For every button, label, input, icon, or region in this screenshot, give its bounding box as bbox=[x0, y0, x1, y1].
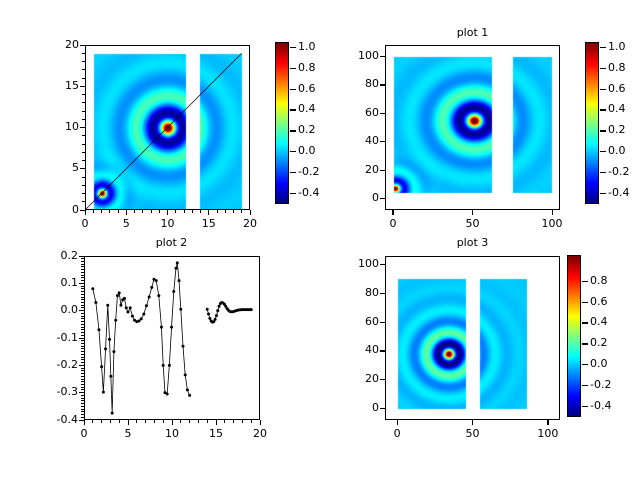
xtick-minor bbox=[118, 210, 119, 213]
xtick-label: 5 bbox=[104, 217, 148, 230]
ytick-minor bbox=[81, 406, 84, 407]
figure-canvas: 05101520 05101520 1.00.80.60.40.20.0-0.2… bbox=[0, 0, 640, 480]
ytick-mark bbox=[380, 264, 385, 265]
ytick-mark bbox=[380, 198, 385, 199]
colorbar-tick-label: -0.2 bbox=[298, 165, 338, 178]
xtick-mark bbox=[392, 210, 393, 215]
colorbar-tick-label: 0.0 bbox=[608, 144, 640, 157]
data-point-marker bbox=[118, 291, 121, 294]
data-point-marker bbox=[166, 393, 169, 396]
ytick-minor bbox=[81, 313, 84, 314]
colorbar-tick-label: 0.2 bbox=[590, 336, 630, 349]
xtick-minor bbox=[233, 210, 234, 213]
ytick-mark bbox=[380, 170, 385, 171]
colorbar-tick-mark bbox=[290, 89, 296, 90]
diagonal-reference-line bbox=[85, 53, 242, 210]
colorbar-tick-label: 0.0 bbox=[298, 144, 338, 157]
ytick-minor bbox=[82, 69, 85, 70]
data-point-marker bbox=[250, 308, 253, 311]
ytick-label: 20 bbox=[41, 38, 79, 51]
ytick-label: 80 bbox=[341, 286, 379, 299]
colorbar-tick-mark bbox=[290, 68, 296, 69]
ytick-minor bbox=[82, 119, 85, 120]
ytick-minor bbox=[81, 381, 84, 382]
colorbar-tick-label: 0.4 bbox=[608, 102, 640, 115]
data-point-marker bbox=[172, 290, 175, 293]
ytick-minor bbox=[82, 102, 85, 103]
subplot-bottom-left-title: plot 2 bbox=[84, 236, 259, 249]
ytick-minor bbox=[81, 258, 84, 259]
line-path bbox=[93, 263, 190, 413]
ytick-label: 0.0 bbox=[40, 303, 78, 316]
colorbar-tick-label: -0.2 bbox=[608, 165, 640, 178]
ytick-minor bbox=[82, 185, 85, 186]
data-point-marker bbox=[109, 375, 112, 378]
data-point-marker bbox=[216, 309, 219, 312]
data-point-marker bbox=[168, 364, 171, 367]
xtick-mark bbox=[472, 420, 473, 425]
data-point-marker bbox=[100, 365, 103, 368]
ytick-minor bbox=[81, 316, 84, 317]
overlay-diagonal-line-top-left bbox=[85, 45, 250, 210]
xtick-minor bbox=[145, 420, 146, 423]
colorbar-tick-label: -0.2 bbox=[590, 378, 630, 391]
ytick-minor bbox=[81, 379, 84, 380]
ytick-minor bbox=[81, 403, 84, 404]
data-point-marker bbox=[119, 304, 122, 307]
ytick-label: 0.1 bbox=[40, 276, 78, 289]
line-series-bottom-left bbox=[84, 256, 260, 420]
colorbar-tick-mark bbox=[600, 68, 606, 69]
ytick-minor bbox=[81, 294, 84, 295]
ytick-minor bbox=[81, 346, 84, 347]
data-point-marker bbox=[91, 287, 94, 290]
ytick-minor bbox=[81, 395, 84, 396]
colorbar-tick-mark bbox=[600, 109, 606, 110]
colorbar-tick-mark bbox=[600, 172, 606, 173]
data-point-marker bbox=[131, 315, 134, 318]
ytick-label: -0.4 bbox=[40, 413, 78, 426]
data-point-marker bbox=[140, 317, 143, 320]
colorbar-tick-label: 0.4 bbox=[590, 315, 630, 328]
xtick-minor bbox=[159, 210, 160, 213]
ytick-label: -0.3 bbox=[40, 385, 78, 398]
ytick-minor bbox=[81, 373, 84, 374]
xtick-label: 5 bbox=[106, 427, 150, 440]
ytick-minor bbox=[82, 144, 85, 145]
ytick-minor bbox=[81, 417, 84, 418]
ytick-minor bbox=[81, 411, 84, 412]
ytick-label: 80 bbox=[341, 77, 379, 90]
ytick-minor bbox=[82, 61, 85, 62]
data-point-marker bbox=[114, 319, 117, 322]
xtick-minor bbox=[224, 420, 225, 423]
colorbar-tick-label: 0.6 bbox=[608, 82, 640, 95]
ytick-minor bbox=[81, 389, 84, 390]
xtick-minor bbox=[192, 210, 193, 213]
xtick-minor bbox=[207, 420, 208, 423]
xtick-minor bbox=[200, 210, 201, 213]
ytick-mark bbox=[80, 168, 85, 169]
subplot-bottom-right-title: plot 3 bbox=[385, 236, 560, 249]
ytick-minor bbox=[81, 266, 84, 267]
ytick-label: -0.2 bbox=[40, 358, 78, 371]
colorbar-tick-mark bbox=[582, 322, 588, 323]
xtick-minor bbox=[184, 210, 185, 213]
data-point-marker bbox=[174, 267, 177, 270]
colorbar-tick-mark bbox=[582, 302, 588, 303]
ytick-minor bbox=[81, 376, 84, 377]
data-point-marker bbox=[208, 317, 211, 320]
xtick-label: 50 bbox=[451, 217, 495, 230]
data-point-marker bbox=[111, 412, 114, 415]
colorbar-tick-mark bbox=[582, 343, 588, 344]
data-point-marker bbox=[127, 311, 130, 314]
data-point-marker bbox=[179, 308, 182, 311]
colorbar-frame-bottom-right bbox=[567, 255, 581, 417]
ytick-minor bbox=[82, 193, 85, 194]
xtick-minor bbox=[180, 420, 181, 423]
xtick-label: 50 bbox=[451, 427, 495, 440]
ytick-minor bbox=[81, 302, 84, 303]
axes-frame-bottom-right bbox=[385, 256, 560, 420]
ytick-minor bbox=[81, 340, 84, 341]
ytick-minor bbox=[82, 160, 85, 161]
data-point-marker bbox=[215, 314, 218, 317]
ytick-label: 10 bbox=[41, 120, 79, 133]
colorbar-tick-mark bbox=[290, 130, 296, 131]
ytick-minor bbox=[81, 297, 84, 298]
colorbar-tick-label: 0.2 bbox=[298, 123, 338, 136]
xtick-mark bbox=[167, 210, 168, 215]
ytick-mark bbox=[380, 293, 385, 294]
ytick-label: 0.2 bbox=[40, 249, 78, 262]
xtick-mark bbox=[172, 420, 173, 425]
xtick-label: 100 bbox=[526, 427, 570, 440]
ytick-minor bbox=[81, 264, 84, 265]
ytick-minor bbox=[81, 332, 84, 333]
xtick-minor bbox=[175, 210, 176, 213]
xtick-minor bbox=[109, 210, 110, 213]
ytick-minor bbox=[81, 387, 84, 388]
data-point-marker bbox=[150, 286, 153, 289]
data-point-marker bbox=[148, 296, 151, 299]
ytick-mark bbox=[380, 322, 385, 323]
xtick-label: 0 bbox=[375, 427, 419, 440]
xtick-minor bbox=[119, 420, 120, 423]
colorbar-tick-mark bbox=[600, 151, 606, 152]
data-point-marker bbox=[112, 350, 115, 353]
subplot-top-right-title: plot 1 bbox=[385, 26, 560, 39]
colorbar-tick-mark bbox=[600, 47, 606, 48]
colorbar-tick-label: 0.6 bbox=[590, 295, 630, 308]
data-point-marker bbox=[155, 279, 158, 282]
ytick-minor bbox=[81, 362, 84, 363]
ytick-minor bbox=[81, 277, 84, 278]
xtick-minor bbox=[198, 420, 199, 423]
xtick-mark bbox=[397, 420, 398, 425]
xtick-mark bbox=[208, 210, 209, 215]
ytick-minor bbox=[82, 177, 85, 178]
ytick-minor bbox=[82, 111, 85, 112]
xtick-minor bbox=[101, 210, 102, 213]
colorbar-tick-label: 0.6 bbox=[298, 82, 338, 95]
ytick-label: 100 bbox=[341, 257, 379, 270]
ytick-label: 15 bbox=[41, 79, 79, 92]
colorbar-tick-label: 0.4 bbox=[298, 102, 338, 115]
colorbar-tick-mark bbox=[290, 193, 296, 194]
xtick-label: 20 bbox=[228, 217, 272, 230]
data-point-marker bbox=[97, 328, 100, 331]
ytick-label: 60 bbox=[341, 315, 379, 328]
colorbar-tick-label: 0.8 bbox=[590, 274, 630, 287]
ytick-minor bbox=[81, 414, 84, 415]
ytick-minor bbox=[81, 286, 84, 287]
xtick-minor bbox=[189, 420, 190, 423]
ytick-label: -0.1 bbox=[40, 331, 78, 344]
ytick-minor bbox=[81, 335, 84, 336]
ytick-minor bbox=[81, 370, 84, 371]
data-point-marker bbox=[176, 261, 179, 264]
data-point-marker bbox=[123, 297, 126, 300]
xtick-mark bbox=[472, 210, 473, 215]
colorbar-tick-mark bbox=[582, 281, 588, 282]
colorbar-tick-mark bbox=[290, 151, 296, 152]
data-point-marker bbox=[142, 312, 145, 315]
xtick-label: 15 bbox=[187, 217, 231, 230]
ytick-minor bbox=[81, 327, 84, 328]
xtick-mark bbox=[216, 420, 217, 425]
data-point-marker bbox=[145, 304, 148, 307]
colorbar-tick-label: 0.8 bbox=[298, 61, 338, 74]
colorbar-tick-label: 1.0 bbox=[298, 40, 338, 53]
ytick-mark bbox=[80, 86, 85, 87]
xtick-minor bbox=[101, 420, 102, 423]
data-point-marker bbox=[104, 347, 107, 350]
ytick-label: 0 bbox=[41, 203, 79, 216]
colorbar-tick-label: 0.2 bbox=[608, 123, 640, 136]
xtick-mark bbox=[84, 420, 85, 425]
ytick-minor bbox=[81, 318, 84, 319]
xtick-label: 10 bbox=[146, 217, 190, 230]
colorbar-tick-label: -0.4 bbox=[298, 186, 338, 199]
ytick-minor bbox=[81, 354, 84, 355]
ytick-minor bbox=[82, 53, 85, 54]
colorbar-tick-mark bbox=[582, 385, 588, 386]
ytick-minor bbox=[81, 307, 84, 308]
xtick-mark bbox=[260, 420, 261, 425]
ytick-minor bbox=[81, 351, 84, 352]
colorbar-tick-mark bbox=[600, 89, 606, 90]
ytick-minor bbox=[81, 398, 84, 399]
xtick-mark bbox=[547, 420, 548, 425]
ytick-mark bbox=[380, 408, 385, 409]
xtick-minor bbox=[154, 420, 155, 423]
ytick-minor bbox=[81, 321, 84, 322]
xtick-minor bbox=[93, 210, 94, 213]
ytick-minor bbox=[81, 357, 84, 358]
ytick-mark bbox=[79, 338, 84, 339]
data-point-marker bbox=[102, 391, 105, 394]
ytick-mark bbox=[79, 283, 84, 284]
ytick-minor bbox=[82, 94, 85, 95]
colorbar-tick-label: -0.4 bbox=[608, 186, 640, 199]
colorbar-tick-mark bbox=[582, 364, 588, 365]
ytick-label: 60 bbox=[341, 106, 379, 119]
ytick-minor bbox=[81, 280, 84, 281]
ytick-label: 40 bbox=[341, 343, 379, 356]
ytick-mark bbox=[380, 350, 385, 351]
ytick-minor bbox=[81, 299, 84, 300]
colorbar-frame-top-right bbox=[585, 42, 599, 204]
ytick-label: 5 bbox=[41, 161, 79, 174]
ytick-label: 100 bbox=[341, 49, 379, 62]
xtick-minor bbox=[134, 210, 135, 213]
colorbar-tick-label: 1.0 bbox=[608, 40, 640, 53]
data-point-marker bbox=[125, 306, 128, 309]
ytick-minor bbox=[82, 152, 85, 153]
ytick-minor bbox=[81, 288, 84, 289]
xtick-mark bbox=[126, 210, 127, 215]
xtick-mark bbox=[250, 210, 251, 215]
data-point-marker bbox=[207, 312, 210, 315]
colorbar-tick-label: -0.4 bbox=[590, 399, 630, 412]
xtick-label: 0 bbox=[63, 217, 107, 230]
data-point-marker bbox=[138, 320, 141, 323]
ytick-minor bbox=[81, 359, 84, 360]
ytick-minor bbox=[81, 368, 84, 369]
data-point-marker bbox=[116, 294, 119, 297]
xtick-minor bbox=[217, 210, 218, 213]
ytick-minor bbox=[82, 201, 85, 202]
ytick-minor bbox=[81, 384, 84, 385]
ytick-label: 40 bbox=[341, 134, 379, 147]
ytick-mark bbox=[80, 45, 85, 46]
xtick-minor bbox=[142, 210, 143, 213]
ytick-label: 0 bbox=[341, 401, 379, 414]
data-point-marker bbox=[188, 394, 191, 397]
data-point-marker bbox=[218, 305, 221, 308]
ytick-mark bbox=[80, 127, 85, 128]
ytick-minor bbox=[81, 261, 84, 262]
data-point-marker bbox=[129, 306, 132, 309]
ytick-mark bbox=[79, 310, 84, 311]
xtick-mark bbox=[128, 420, 129, 425]
ytick-minor bbox=[82, 135, 85, 136]
data-point-marker bbox=[160, 326, 163, 329]
ytick-label: 20 bbox=[341, 163, 379, 176]
ytick-label: 0 bbox=[341, 191, 379, 204]
xtick-minor bbox=[92, 420, 93, 423]
ytick-minor bbox=[81, 348, 84, 349]
xtick-minor bbox=[163, 420, 164, 423]
data-point-marker bbox=[214, 318, 217, 321]
ytick-minor bbox=[81, 324, 84, 325]
ytick-mark bbox=[79, 365, 84, 366]
data-point-marker bbox=[94, 301, 97, 304]
ytick-minor bbox=[81, 275, 84, 276]
colorbar-tick-label: 0.0 bbox=[590, 357, 630, 370]
data-point-marker bbox=[178, 279, 181, 282]
ytick-minor bbox=[81, 272, 84, 273]
ytick-minor bbox=[81, 409, 84, 410]
ytick-minor bbox=[82, 78, 85, 79]
colorbar-frame-top-left bbox=[275, 42, 289, 204]
ytick-mark bbox=[79, 392, 84, 393]
xtick-minor bbox=[251, 420, 252, 423]
xtick-label: 15 bbox=[194, 427, 238, 440]
ytick-label: 20 bbox=[341, 372, 379, 385]
xtick-mark bbox=[85, 210, 86, 215]
ytick-mark bbox=[380, 113, 385, 114]
data-point-marker bbox=[170, 326, 173, 329]
ytick-minor bbox=[81, 329, 84, 330]
data-point-marker bbox=[182, 345, 185, 348]
ytick-minor bbox=[81, 305, 84, 306]
colorbar-tick-mark bbox=[600, 193, 606, 194]
colorbar-tick-mark bbox=[290, 172, 296, 173]
data-point-marker bbox=[157, 294, 160, 297]
colorbar-tick-mark bbox=[582, 406, 588, 407]
data-point-marker bbox=[106, 304, 109, 307]
axes-frame-top-right bbox=[385, 45, 560, 210]
xtick-mark bbox=[552, 210, 553, 215]
ytick-minor bbox=[81, 343, 84, 344]
ytick-mark bbox=[380, 141, 385, 142]
xtick-label: 20 bbox=[238, 427, 282, 440]
data-point-marker bbox=[108, 338, 111, 341]
ytick-mark bbox=[380, 379, 385, 380]
xtick-label: 100 bbox=[530, 217, 574, 230]
xtick-label: 10 bbox=[150, 427, 194, 440]
ytick-minor bbox=[81, 269, 84, 270]
xtick-minor bbox=[225, 210, 226, 213]
xtick-label: 0 bbox=[371, 217, 415, 230]
data-point-marker bbox=[162, 364, 165, 367]
xtick-minor bbox=[242, 420, 243, 423]
data-point-marker bbox=[206, 308, 209, 311]
xtick-minor bbox=[233, 420, 234, 423]
xtick-minor bbox=[110, 420, 111, 423]
colorbar-tick-mark bbox=[290, 47, 296, 48]
xtick-minor bbox=[241, 210, 242, 213]
ytick-mark bbox=[380, 56, 385, 57]
data-point-marker bbox=[186, 388, 189, 391]
xtick-minor bbox=[136, 420, 137, 423]
xtick-label: 0 bbox=[62, 427, 106, 440]
colorbar-tick-mark bbox=[600, 130, 606, 131]
colorbar-tick-label: 0.8 bbox=[608, 61, 640, 74]
ytick-minor bbox=[81, 291, 84, 292]
ytick-mark bbox=[380, 84, 385, 85]
ytick-minor bbox=[81, 400, 84, 401]
xtick-minor bbox=[151, 210, 152, 213]
data-point-marker bbox=[184, 373, 187, 376]
colorbar-tick-mark bbox=[290, 109, 296, 110]
ytick-mark bbox=[79, 256, 84, 257]
